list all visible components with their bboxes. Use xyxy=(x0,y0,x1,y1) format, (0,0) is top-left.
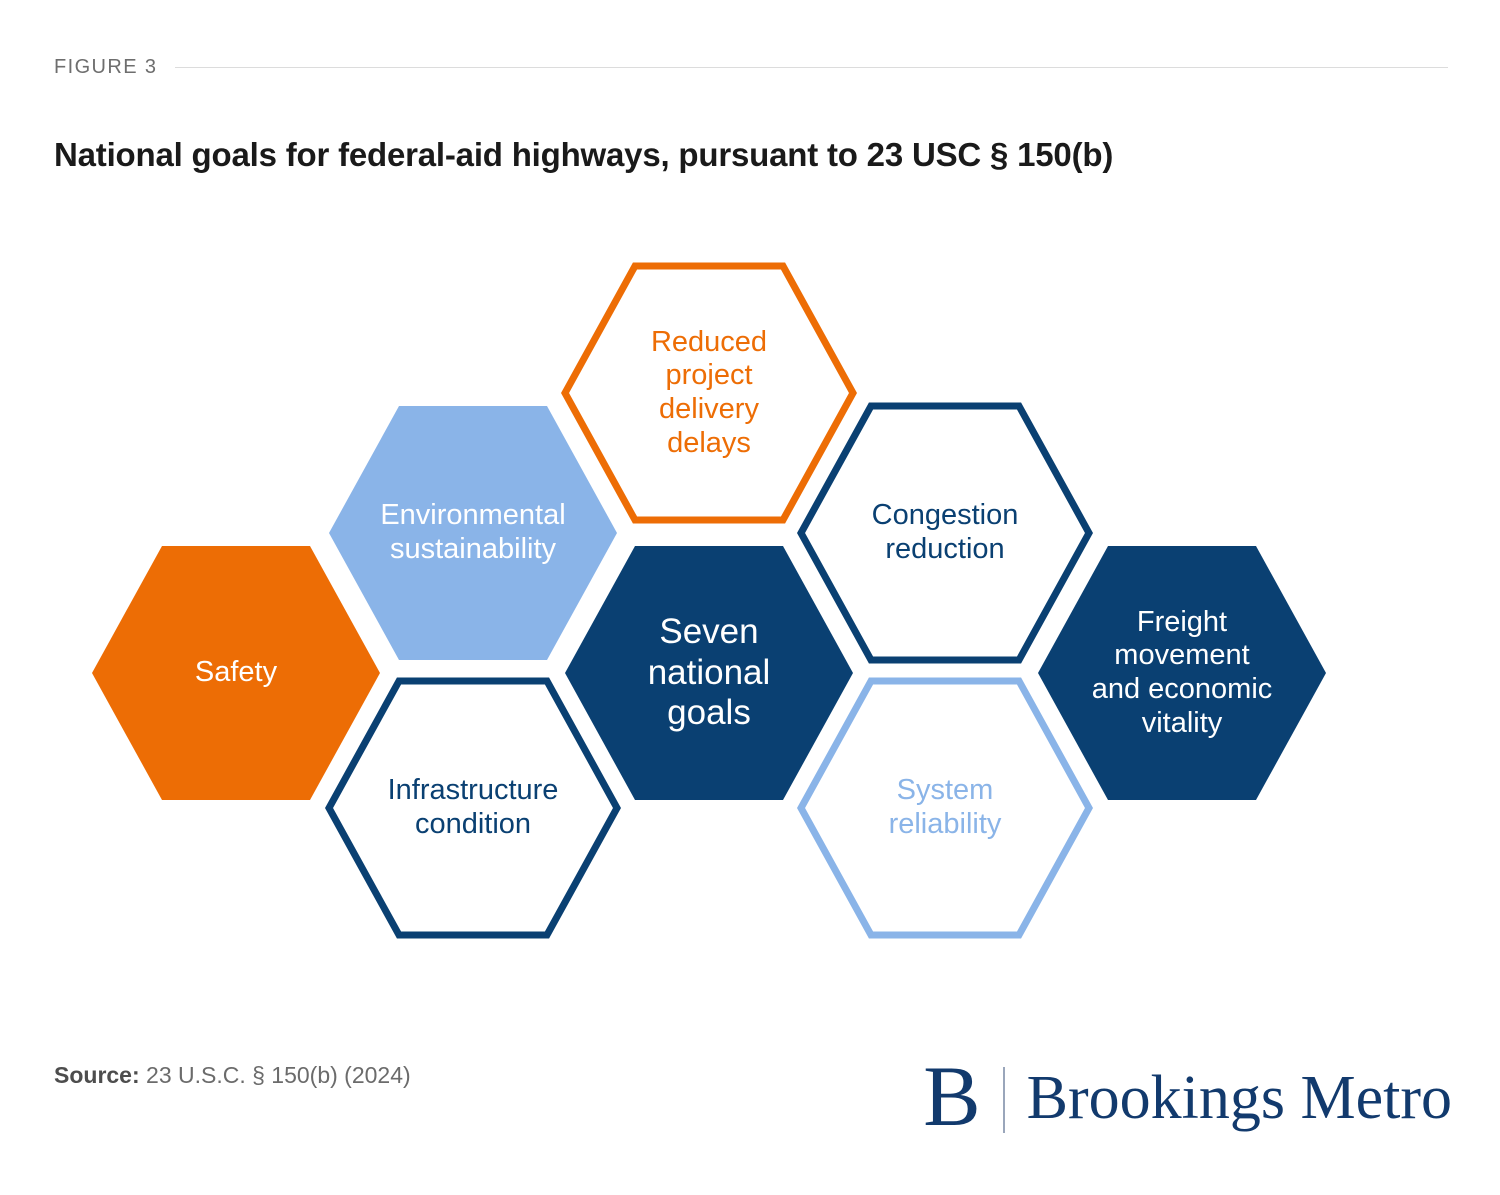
source-note: Source: 23 U.S.C. § 150(b) (2024) xyxy=(54,1062,411,1089)
header-divider-rule xyxy=(175,67,1448,68)
brookings-metro-logo: B Brookings Metro xyxy=(923,1052,1452,1148)
honeycomb-diagram: SafetyEnvironmental sustainabilityReduce… xyxy=(0,240,1500,960)
figure-number-label: FIGURE 3 xyxy=(54,56,157,79)
hex-node-freight: Freight movement and economic vitality xyxy=(1034,542,1330,804)
hex-node-label: Seven national goals xyxy=(610,612,809,734)
source-label: Source: xyxy=(54,1062,140,1088)
hex-node-label: Environmental sustainability xyxy=(336,499,609,566)
hex-node-label: Reduced project delivery delays xyxy=(607,326,811,461)
logo-divider xyxy=(1003,1067,1005,1133)
page-title: National goals for federal-aid highways,… xyxy=(54,136,1454,174)
hex-node-label: System reliability xyxy=(845,774,1046,841)
hex-node-infrastructure: Infrastructure condition xyxy=(325,677,621,939)
brookings-b-mark: B xyxy=(923,1053,980,1139)
hex-node-label: Freight movement and economic vitality xyxy=(1048,606,1317,741)
figure-header: FIGURE 3 xyxy=(54,52,1448,82)
hex-node-label: Infrastructure condition xyxy=(344,774,603,841)
hex-node-label: Congestion reduction xyxy=(828,499,1063,566)
hex-node-label: Safety xyxy=(151,656,321,690)
logo-wordmark: Brookings Metro xyxy=(1027,1067,1452,1129)
source-text: 23 U.S.C. § 150(b) (2024) xyxy=(146,1062,411,1088)
